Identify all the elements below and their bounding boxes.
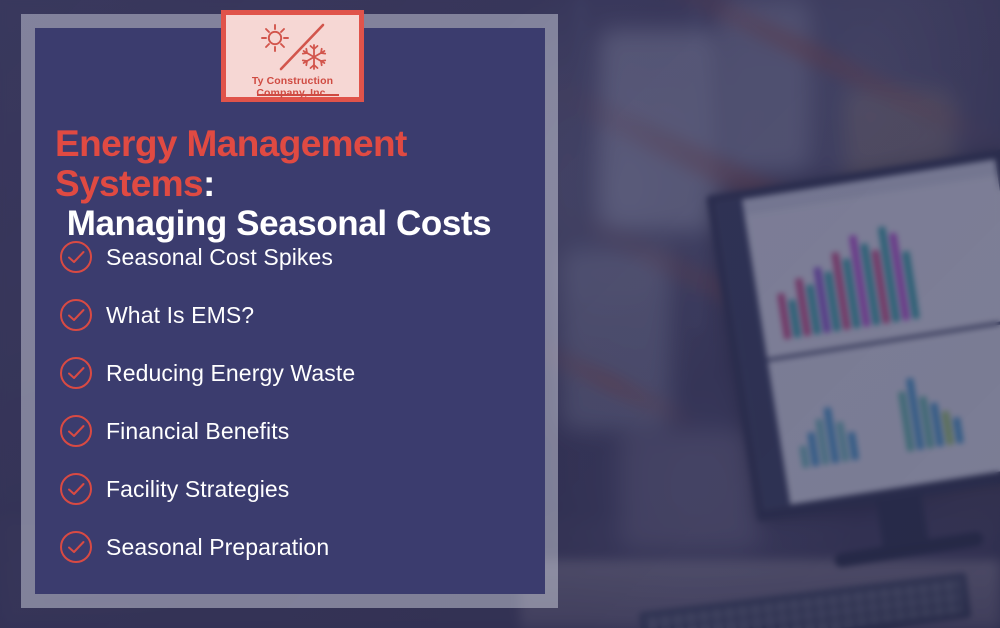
circle-check-icon (58, 297, 94, 333)
circle-check-icon (58, 413, 94, 449)
list-item-label: Financial Benefits (106, 418, 289, 445)
list-item-label: Seasonal Cost Spikes (106, 244, 333, 271)
title-colon: : (203, 163, 215, 204)
title-line-1-text: Energy Management Systems (55, 123, 407, 204)
content-panel: Energy Management Systems: Managing Seas… (35, 28, 545, 594)
list-item[interactable]: What Is EMS? (58, 286, 528, 344)
sun-icon (262, 25, 288, 51)
list-item[interactable]: Reducing Energy Waste (58, 344, 528, 402)
slide-canvas: Energy Management Systems: Managing Seas… (0, 0, 1000, 628)
circle-check-icon (58, 355, 94, 391)
list-item[interactable]: Facility Strategies (58, 460, 528, 518)
page-title: Energy Management Systems: Managing Seas… (55, 124, 525, 244)
list-item-label: What Is EMS? (106, 302, 254, 329)
checklist: Seasonal Cost Spikes What Is EMS? Reduci… (58, 228, 528, 576)
logo-artwork (226, 19, 369, 77)
circle-check-icon (58, 471, 94, 507)
list-item[interactable]: Seasonal Cost Spikes (58, 228, 528, 286)
circle-check-icon (58, 529, 94, 565)
list-item[interactable]: Financial Benefits (58, 402, 528, 460)
list-item-label: Seasonal Preparation (106, 534, 329, 561)
company-logo: Ty Construction Company, Inc. (221, 10, 364, 102)
snowflake-icon (303, 45, 325, 69)
title-line-1: Energy Management Systems: (55, 124, 525, 204)
list-item-label: Reducing Energy Waste (106, 360, 355, 387)
list-item-label: Facility Strategies (106, 476, 289, 503)
list-item[interactable]: Seasonal Preparation (58, 518, 528, 576)
circle-check-icon (58, 239, 94, 275)
logo-underline (257, 94, 339, 96)
